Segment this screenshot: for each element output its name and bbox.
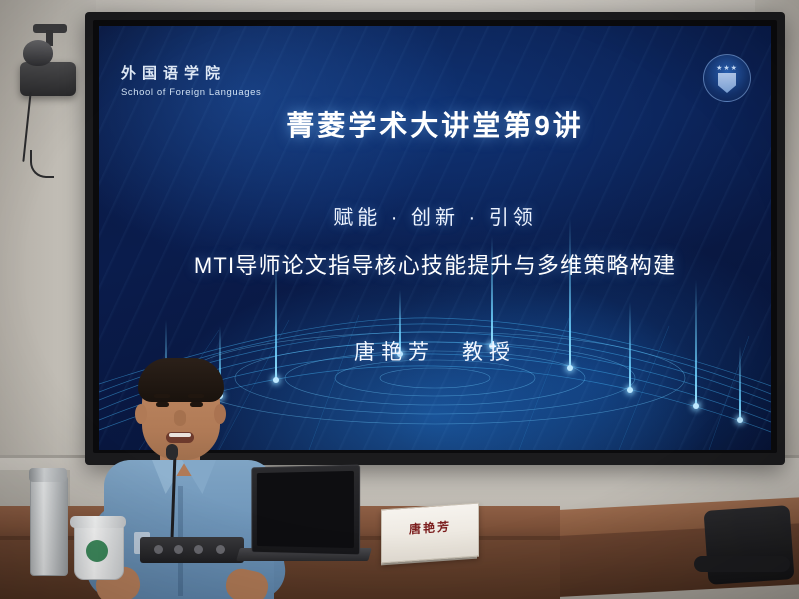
desk-microphone-head [166, 444, 178, 460]
vacuum-flask-cap[interactable] [29, 468, 67, 482]
speaker-ear-left [135, 404, 147, 424]
laptop-lid[interactable] [251, 465, 360, 556]
slide-title-main: 菁菱学术大讲堂第9讲 [99, 104, 771, 144]
tea-cup-lid[interactable] [70, 516, 126, 528]
console-knob[interactable] [154, 545, 163, 554]
slide-org-cn: 外国语学院 [121, 62, 261, 83]
university-emblem-icon: ★★★ [703, 54, 751, 102]
console-knob[interactable] [194, 545, 203, 554]
speaker-eye-right [190, 402, 203, 407]
laptop-screen [257, 471, 354, 548]
speaker-ear-right [214, 404, 226, 424]
office-chair-back [704, 505, 795, 585]
office-chair-arm [694, 556, 790, 572]
projector-body [20, 62, 76, 96]
speaker-mouth [166, 432, 194, 443]
projector-lens [23, 40, 53, 66]
audio-control-console[interactable] [140, 537, 244, 563]
emblem-stars: ★★★ [704, 64, 750, 72]
speaker-hair [138, 358, 224, 402]
slide-org-block: 外国语学院 School of Foreign Languages [121, 62, 261, 98]
emblem-shield [718, 73, 736, 93]
tea-cup-logo-icon [86, 540, 108, 562]
console-knob[interactable] [216, 545, 225, 554]
speaker-eyebrow-right [188, 394, 204, 398]
speaker-eyebrow-left [154, 394, 170, 398]
nameplate-text: 唐艳芳 [382, 516, 478, 540]
console-knob[interactable] [174, 545, 183, 554]
slide-title-line: MTI导师论文指导核心技能提升与多维策略构建 [99, 248, 771, 280]
desk-nameplate: 唐艳芳 [381, 503, 479, 564]
screenshot-root: 外国语学院 School of Foreign Languages ★★★ 菁菱… [0, 0, 799, 599]
slide-org-en: School of Foreign Languages [121, 87, 261, 98]
slide-title-sub: 赋能 · 创新 · 引领 [99, 201, 771, 230]
speaker-nose [174, 410, 186, 426]
speaker-eye-left [156, 402, 169, 407]
vacuum-flask[interactable] [30, 474, 68, 576]
